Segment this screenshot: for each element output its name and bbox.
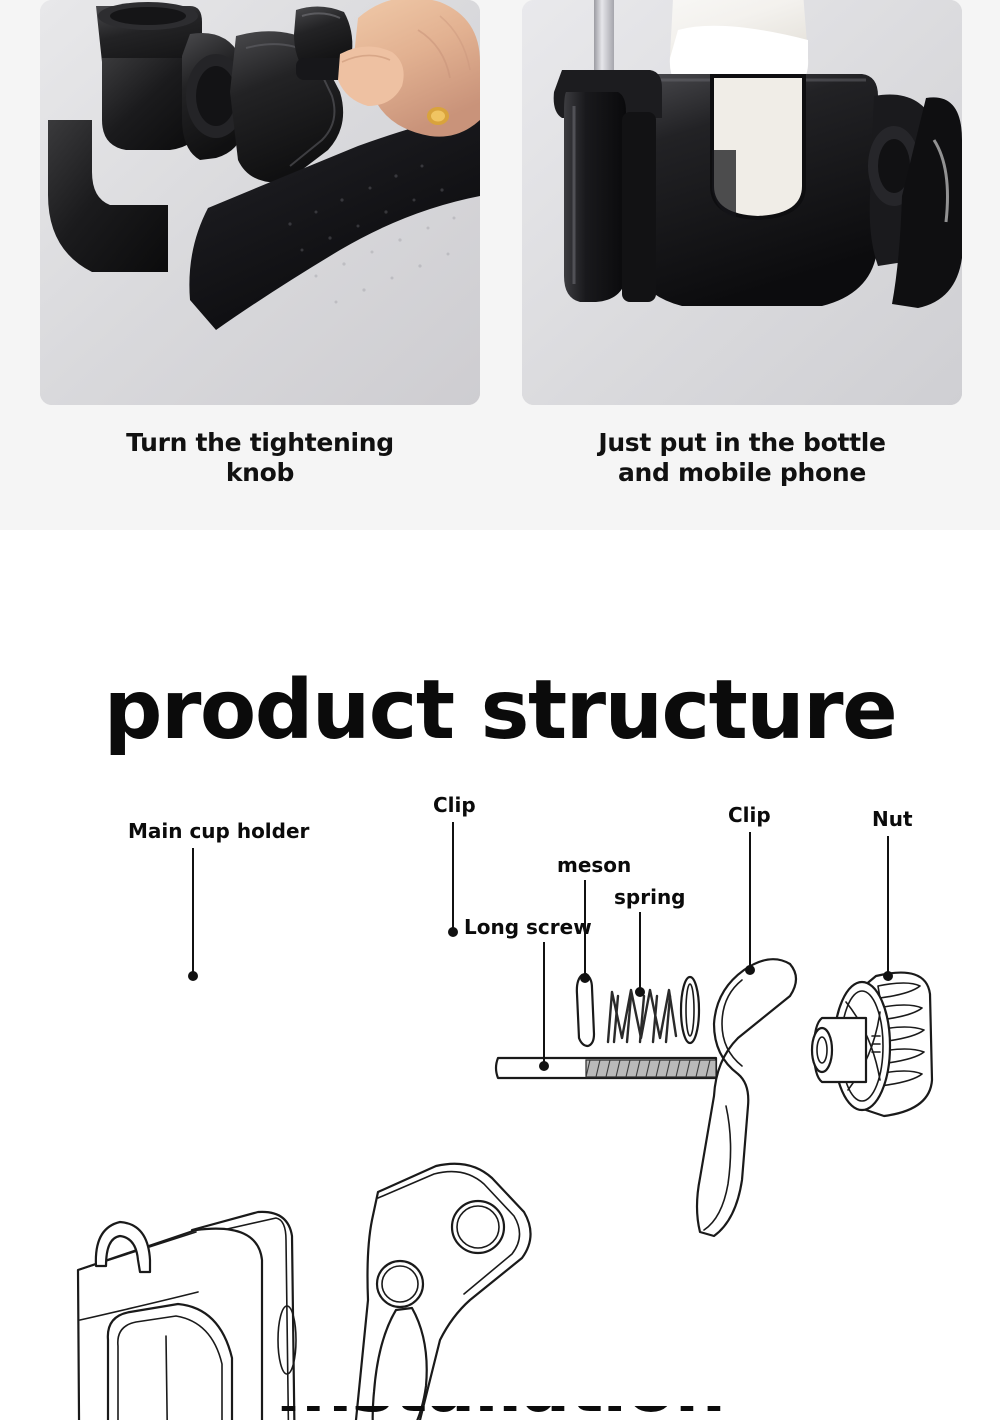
step-item-1: Turn the tightening knob (40, 0, 480, 405)
clip-right-drawing (697, 959, 796, 1236)
nut-drawing (812, 973, 932, 1116)
step-item-2: Just put in the bottle and mobile phone (522, 0, 962, 405)
label-meson: meson (557, 853, 631, 877)
product-structure-title: product structure (0, 670, 1000, 752)
label-nut: Nut (872, 807, 913, 831)
step-caption-2-line1: Just put in the bottle (522, 428, 962, 458)
meson-washer-drawing (681, 977, 699, 1043)
cup-holder-with-bottle-photo (522, 0, 962, 405)
spring-drawing (608, 990, 676, 1042)
installation-steps-section: Turn the tightening knob (0, 0, 1000, 530)
step-caption-1-line1: Turn the tightening (40, 428, 480, 458)
main-cup-holder-drawing (78, 1212, 296, 1420)
step-caption-1-line2: knob (40, 458, 480, 488)
clip-left-drawing (352, 1164, 530, 1420)
pin-drawing (577, 974, 594, 1046)
long-screw-drawing (496, 1058, 716, 1078)
label-main-cup-holder: Main cup holder (128, 819, 310, 843)
steps-photo-row: Turn the tightening knob (0, 0, 1000, 410)
label-spring: spring (614, 885, 686, 909)
step-caption-2: Just put in the bottle and mobile phone (522, 428, 962, 488)
bottom-cutoff-heading: Installation (0, 1406, 1000, 1420)
step-caption-1: Turn the tightening knob (40, 428, 480, 488)
label-clip-right: Clip (728, 803, 771, 827)
label-long-screw: Long screw (464, 915, 592, 939)
exploded-parts-diagram: Main cup holder Clip (0, 780, 1000, 1420)
bottom-cutoff-text: Installation (0, 1406, 1000, 1420)
label-clip-left: Clip (433, 793, 476, 817)
step-caption-2-line2: and mobile phone (522, 458, 962, 488)
hand-turning-knob-photo (40, 0, 480, 405)
product-structure-section: product structure (0, 530, 1000, 1420)
